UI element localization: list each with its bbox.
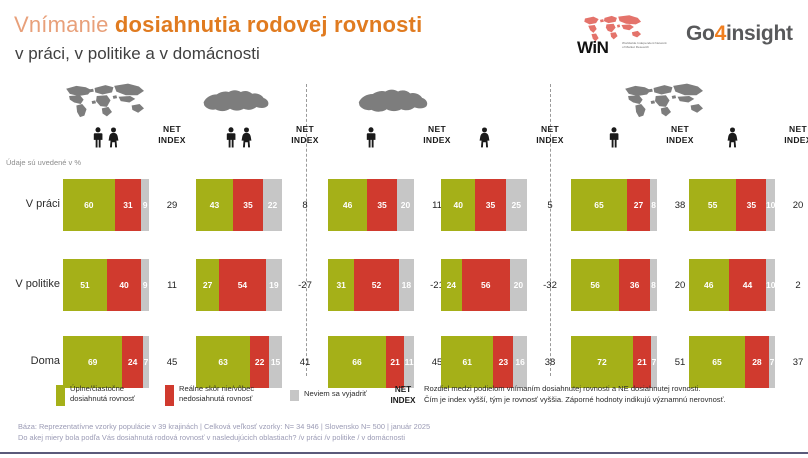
- bar-value-gray: 7: [144, 357, 149, 367]
- legend-label-line2: dosiahnutá rovnosť: [70, 394, 135, 404]
- legend-label-2: Reálne skôr nie/vôbecnedosiahnutá rovnos…: [179, 384, 254, 403]
- bar-segment-green: 63: [196, 336, 250, 388]
- legend-net-line2: Čím je index vyšší, tým je rovnosť vyšši…: [424, 395, 726, 406]
- gender-icons-slovakia-men: [328, 122, 414, 148]
- net-index-value-global-all-2: 45: [149, 336, 195, 388]
- row-label-2: V politike: [0, 278, 60, 290]
- index-word: INDEX: [527, 135, 573, 146]
- legend-net-line1: Rozdiel medzi podielom vnímaním dosiahnu…: [424, 384, 726, 395]
- bar-segment-gray: 8: [650, 259, 657, 311]
- footer-question-line: Do akej miery bola podľa Vás dosiahnutá …: [18, 433, 405, 442]
- bar-value-green: 51: [80, 280, 89, 290]
- legend-swatch-1: [56, 385, 65, 406]
- bar-segment-red: 31: [115, 179, 142, 231]
- bar-segment-gray: 9: [141, 259, 149, 311]
- gender-icons-global-all: [63, 122, 149, 148]
- stacked-bar-slovakia-all-1: 275419: [196, 259, 282, 311]
- bar-value-green: 43: [210, 200, 219, 210]
- bar-segment-gray: 11: [404, 336, 414, 388]
- bar-segment-red: 56: [462, 259, 510, 311]
- net-word: NET: [775, 124, 808, 135]
- bar-segment-green: 60: [63, 179, 115, 231]
- legend-label-1: Úplne/čiastočnedosiahnutá rovnosť: [70, 384, 135, 403]
- go4insight-logo: Go4insight: [686, 22, 793, 46]
- index-word: INDEX: [282, 135, 328, 146]
- bar-value-green: 72: [597, 357, 606, 367]
- chart-group-slovakia-men: NETINDEX46352011315218-2166211145: [328, 78, 448, 378]
- bar-segment-green: 72: [571, 336, 633, 388]
- page-header: Vnímanie dosiahnutia rodovej rovnosti v …: [0, 0, 808, 78]
- legend-label-line1: Neviem sa vyjadriť: [304, 389, 367, 399]
- net-index-value-global-women-1: 2: [775, 259, 808, 311]
- bar-segment-red: 44: [729, 259, 767, 311]
- legend-swatch-3: [290, 390, 299, 401]
- bar-segment-red: 22: [250, 336, 269, 388]
- legend-label-3: Neviem sa vyjadriť: [304, 389, 367, 399]
- female-icon: [726, 127, 739, 148]
- legend-net-index-description: Rozdiel medzi podielom vnímaním dosiahnu…: [424, 384, 726, 405]
- net-index-header-slovakia-women: NETINDEX: [527, 124, 573, 146]
- bar-value-gray: 10: [766, 200, 775, 210]
- bar-value-red: 22: [255, 357, 264, 367]
- net-index-value-slovakia-all-2: 41: [282, 336, 328, 388]
- bar-value-red: 28: [752, 357, 761, 367]
- index-word: INDEX: [775, 135, 808, 146]
- legend-net-index-label: NETINDEX: [386, 384, 420, 406]
- bar-value-green: 65: [712, 357, 721, 367]
- bar-segment-gray: 8: [650, 179, 657, 231]
- bar-segment-green: 40: [441, 179, 475, 231]
- bar-segment-green: 27: [196, 259, 219, 311]
- bar-value-red: 52: [372, 280, 381, 290]
- row-label-1: V práci: [0, 198, 60, 210]
- stacked-bar-global-all-1: 51409: [63, 259, 149, 311]
- net-index-value-global-women-2: 37: [775, 336, 808, 388]
- bar-value-green: 61: [462, 357, 471, 367]
- chart-group-slovakia-women: NETINDEX4035255245620-3261231638: [441, 78, 561, 378]
- male-icon: [225, 127, 237, 148]
- net-index-value-slovakia-women-1: -32: [527, 259, 573, 311]
- female-icon: [478, 127, 491, 148]
- bar-segment-red: 21: [633, 336, 651, 388]
- bar-segment-red: 54: [219, 259, 265, 311]
- bar-segment-red: 23: [493, 336, 513, 388]
- bar-value-green: 46: [343, 200, 352, 210]
- bar-segment-gray: 18: [399, 259, 414, 311]
- chart-group-global-men: NETINDEX652783856368207221751: [571, 78, 691, 378]
- bar-segment-green: 65: [571, 179, 627, 231]
- bar-segment-gray: 10: [766, 259, 775, 311]
- bar-value-green: 40: [453, 200, 462, 210]
- bar-value-gray: 15: [271, 357, 280, 367]
- bar-segment-green: 66: [328, 336, 386, 388]
- bar-segment-green: 69: [63, 336, 122, 388]
- legend-item-2: Reálne skôr nie/vôbecnedosiahnutá rovnos…: [165, 384, 254, 406]
- bar-value-gray: 7: [770, 357, 775, 367]
- chart-group-slovakia-all: NETINDEX4335228275419-2763221541: [196, 78, 316, 378]
- stacked-bar-slovakia-men-0: 463520: [328, 179, 414, 231]
- bar-value-red: 35: [747, 200, 756, 210]
- chart-group-global-women: NETINDEX5535102046441026528737: [689, 78, 808, 378]
- go4insight-post: insight: [726, 22, 793, 45]
- bar-value-red: 56: [481, 280, 490, 290]
- bar-segment-gray: 15: [269, 336, 282, 388]
- bar-value-gray: 22: [268, 200, 277, 210]
- stacked-bar-global-all-0: 60319: [63, 179, 149, 231]
- legend-index-word: INDEX: [386, 395, 420, 406]
- gender-icons-slovakia-women: [441, 122, 527, 148]
- bar-segment-green: 24: [441, 259, 462, 311]
- stacked-bar-slovakia-all-2: 632215: [196, 336, 282, 388]
- bar-value-gray: 11: [405, 357, 414, 367]
- male-icon: [365, 127, 377, 148]
- bar-value-green: 56: [590, 280, 599, 290]
- footer-rule: [0, 452, 808, 454]
- go4insight-four: 4: [715, 22, 726, 45]
- net-index-value-slovakia-women-0: 5: [527, 179, 573, 231]
- bar-value-green: 55: [708, 200, 717, 210]
- win-logo-text: WiN: [577, 38, 608, 58]
- bar-segment-red: 36: [619, 259, 650, 311]
- bar-value-green: 69: [88, 357, 97, 367]
- bar-segment-gray: 16: [513, 336, 527, 388]
- bar-value-gray: 9: [143, 200, 148, 210]
- bar-value-red: 23: [499, 357, 508, 367]
- stacked-bar-global-women-2: 65287: [689, 336, 775, 388]
- bar-segment-red: 35: [736, 179, 766, 231]
- bar-value-red: 31: [123, 200, 132, 210]
- net-index-value-global-all-1: 11: [149, 259, 195, 311]
- stacked-bar-global-men-2: 72217: [571, 336, 657, 388]
- bar-value-gray: 20: [401, 200, 410, 210]
- net-index-value-global-women-0: 20: [775, 179, 808, 231]
- bar-value-red: 24: [128, 357, 137, 367]
- bar-value-green: 31: [336, 280, 345, 290]
- bar-value-gray: 9: [143, 280, 148, 290]
- bar-segment-green: 46: [328, 179, 367, 231]
- net-index-value-global-all-0: 29: [149, 179, 195, 231]
- bar-value-green: 46: [704, 280, 713, 290]
- bar-value-gray: 16: [515, 357, 524, 367]
- stacked-bar-global-all-2: 69247: [63, 336, 149, 388]
- net-word: NET: [282, 124, 328, 135]
- stacked-bar-slovakia-men-1: 315218: [328, 259, 414, 311]
- bar-value-gray: 19: [269, 280, 278, 290]
- male-icon: [92, 127, 104, 148]
- legend-net-word: NET: [386, 384, 420, 395]
- bar-value-green: 65: [594, 200, 603, 210]
- row-label-3: Doma: [0, 355, 60, 367]
- bar-value-green: 60: [84, 200, 93, 210]
- bar-value-gray: 7: [652, 357, 657, 367]
- legend-item-1: Úplne/čiastočnedosiahnutá rovnosť: [56, 384, 135, 406]
- bar-value-gray: 25: [512, 200, 521, 210]
- bar-value-gray: 8: [651, 280, 656, 290]
- female-icon: [240, 127, 253, 148]
- bar-value-green: 63: [218, 357, 227, 367]
- gender-icons-slovakia-all: [196, 122, 282, 148]
- bar-value-red: 54: [238, 280, 247, 290]
- bar-value-red: 36: [630, 280, 639, 290]
- bar-value-gray: 10: [766, 280, 775, 290]
- index-word: INDEX: [149, 135, 195, 146]
- chart-area: Údaje sú uvedené v % V práciV politikeDo…: [0, 78, 808, 378]
- net-index-value-slovakia-all-1: -27: [282, 259, 328, 311]
- stacked-bar-slovakia-men-2: 662111: [328, 336, 414, 388]
- win-logo-subtext: Worldwide Independent Network of Market …: [622, 41, 668, 49]
- stacked-bar-global-women-0: 553510: [689, 179, 775, 231]
- legend-swatch-2: [165, 385, 174, 406]
- bar-segment-gray: 9: [141, 179, 149, 231]
- bar-value-red: 40: [119, 280, 128, 290]
- stacked-bar-slovakia-women-0: 403525: [441, 179, 527, 231]
- bar-segment-gray: 22: [263, 179, 282, 231]
- bar-segment-red: 40: [107, 259, 141, 311]
- legend-item-3: Neviem sa vyjadriť: [290, 389, 367, 401]
- net-index-header-slovakia-all: NETINDEX: [282, 124, 328, 146]
- stacked-bar-slovakia-women-1: 245620: [441, 259, 527, 311]
- bar-segment-gray: 20: [397, 179, 414, 231]
- bar-value-red: 44: [743, 280, 752, 290]
- bar-segment-green: 61: [441, 336, 493, 388]
- net-index-value-slovakia-all-0: 8: [282, 179, 328, 231]
- gender-icons-global-men: [571, 122, 657, 148]
- bar-value-gray: 18: [402, 280, 411, 290]
- bar-segment-green: 55: [689, 179, 736, 231]
- bar-segment-gray: 20: [510, 259, 527, 311]
- stacked-bar-slovakia-all-0: 433522: [196, 179, 282, 231]
- net-index-header-global-women: NETINDEX: [775, 124, 808, 146]
- legend-label-line1: Úplne/čiastočne: [70, 384, 135, 394]
- footer-base-line: Báza: Reprezentatívne vzorky populácie v…: [18, 422, 430, 431]
- chart-group-global-all: NETINDEX603192951409116924745: [63, 78, 183, 378]
- bar-value-gray: 20: [514, 280, 523, 290]
- stacked-bar-global-women-1: 464410: [689, 259, 775, 311]
- net-index-header-global-all: NETINDEX: [149, 124, 195, 146]
- bar-segment-red: 52: [354, 259, 398, 311]
- net-word: NET: [527, 124, 573, 135]
- bar-value-red: 21: [637, 357, 646, 367]
- bar-value-red: 21: [390, 357, 399, 367]
- bar-segment-green: 43: [196, 179, 233, 231]
- bar-value-green: 27: [203, 280, 212, 290]
- bar-value-red: 27: [634, 200, 643, 210]
- bar-value-green: 66: [352, 357, 361, 367]
- page-title-bold: dosiahnutia rodovej rovnosti: [115, 12, 423, 37]
- page-subtitle: v práci, v politike a v domácnosti: [15, 44, 260, 64]
- bar-value-red: 35: [243, 200, 252, 210]
- male-icon: [608, 127, 620, 148]
- stacked-bar-slovakia-women-2: 612316: [441, 336, 527, 388]
- bar-segment-red: 35: [233, 179, 263, 231]
- bar-segment-green: 65: [689, 336, 745, 388]
- page-title: Vnímanie dosiahnutia rodovej rovnosti: [14, 12, 422, 38]
- stacked-bar-global-men-1: 56368: [571, 259, 657, 311]
- bar-segment-gray: 10: [766, 179, 775, 231]
- win-logo: WiN Worldwide Independent Network of Mar…: [575, 12, 667, 58]
- net-index-value-slovakia-women-2: 38: [527, 336, 573, 388]
- bar-segment-red: 28: [745, 336, 769, 388]
- legend-label-line1: Reálne skôr nie/vôbec: [179, 384, 254, 394]
- bar-value-green: 24: [447, 280, 456, 290]
- bar-segment-gray: 25: [506, 179, 528, 231]
- female-icon: [107, 127, 120, 148]
- bar-segment-red: 35: [475, 179, 505, 231]
- bar-segment-green: 56: [571, 259, 619, 311]
- bar-segment-green: 51: [63, 259, 107, 311]
- page-title-light: Vnímanie: [14, 12, 115, 37]
- bar-segment-red: 21: [386, 336, 404, 388]
- bar-value-red: 35: [486, 200, 495, 210]
- bar-segment-gray: 19: [266, 259, 282, 311]
- bar-segment-red: 27: [627, 179, 650, 231]
- bar-segment-red: 24: [122, 336, 143, 388]
- net-word: NET: [149, 124, 195, 135]
- stacked-bar-global-men-0: 65278: [571, 179, 657, 231]
- bar-segment-red: 35: [367, 179, 397, 231]
- bar-value-red: 35: [377, 200, 386, 210]
- bar-segment-green: 31: [328, 259, 354, 311]
- gender-icons-global-women: [689, 122, 775, 148]
- bar-segment-green: 46: [689, 259, 729, 311]
- bar-value-gray: 8: [651, 200, 656, 210]
- go4insight-pre: Go: [686, 22, 715, 45]
- chart-legend: NETINDEX Rozdiel medzi podielom vnímaním…: [0, 383, 808, 417]
- legend-label-line2: nedosiahnutá rovnosť: [179, 394, 254, 404]
